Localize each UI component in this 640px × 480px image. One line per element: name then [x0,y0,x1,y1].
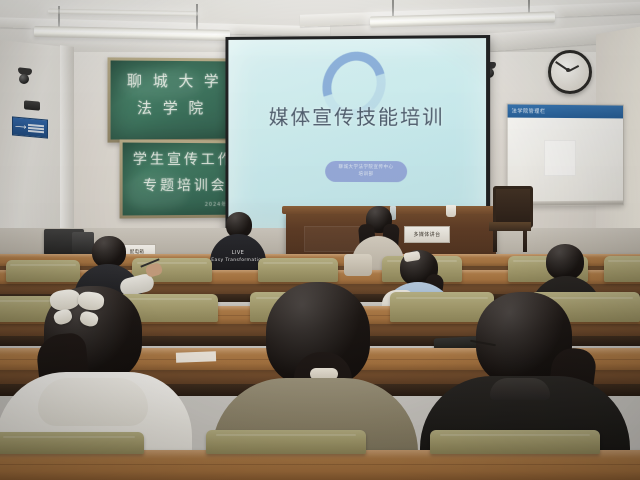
chair-back [430,430,600,454]
classroom-photo: ⟶ 聊 城 大 学 法 学 院 学生宣传工作 专题培训会 2024年11月 媒体… [0,0,640,480]
chair-back [604,256,640,282]
slide-title: 媒体宣传技能培训 [228,101,486,130]
notice-board-header: 法学院管理栏 [508,104,623,118]
exit-sign: ⟶ [12,116,48,138]
podium-plaque-text: 多媒体讲台 [413,231,440,238]
light-rod [196,4,198,30]
light-rod [392,0,394,16]
security-camera-icon [19,74,29,84]
wall-clock [548,50,592,94]
wall-speaker [24,100,40,110]
blackboard-line-4: 专题培训会 [143,175,227,195]
hood [38,378,148,426]
left-wall-column [60,45,74,237]
notice-board-title: 法学院管理栏 [512,107,546,114]
desk-row-front-lip [0,450,640,480]
desk-surface [0,450,640,480]
projection-screen-face: 媒体宣传技能培训 聊城大学法学院宣传中心 培训部 [228,38,486,232]
wooden-armchair [487,186,533,252]
blackboard-line-2: 法 学 院 [137,97,206,118]
blackboard-top-face: 聊 城 大 学 法 学 院 [111,60,244,139]
head [546,244,584,280]
chair-back [6,260,80,282]
notice-paper [544,140,576,176]
chair-back [206,430,366,454]
clock-center [566,68,570,72]
chair-back [0,432,144,454]
clock-hour-hand [569,65,580,72]
paper-cup [446,205,456,217]
podium-plaque: 多媒体讲台 [404,226,450,243]
chair-back [258,258,338,282]
slide-pill-line-2: 培训部 [358,172,373,179]
exit-arrow-icon: ⟶ [15,122,26,131]
slide-subtitle-pill: 聊城大学法学院宣传中心 培训部 [325,161,407,182]
blackboard-line-3: 学生宣传工作 [133,149,234,169]
blackboard-line-1: 聊 城 大 学 [127,70,222,91]
chair-leg [493,230,497,252]
bag [344,254,372,276]
collar [490,378,550,400]
jacket-text-line-1: LIVE [210,250,266,256]
exit-sign-text [28,123,44,132]
chair-leg [523,230,527,252]
